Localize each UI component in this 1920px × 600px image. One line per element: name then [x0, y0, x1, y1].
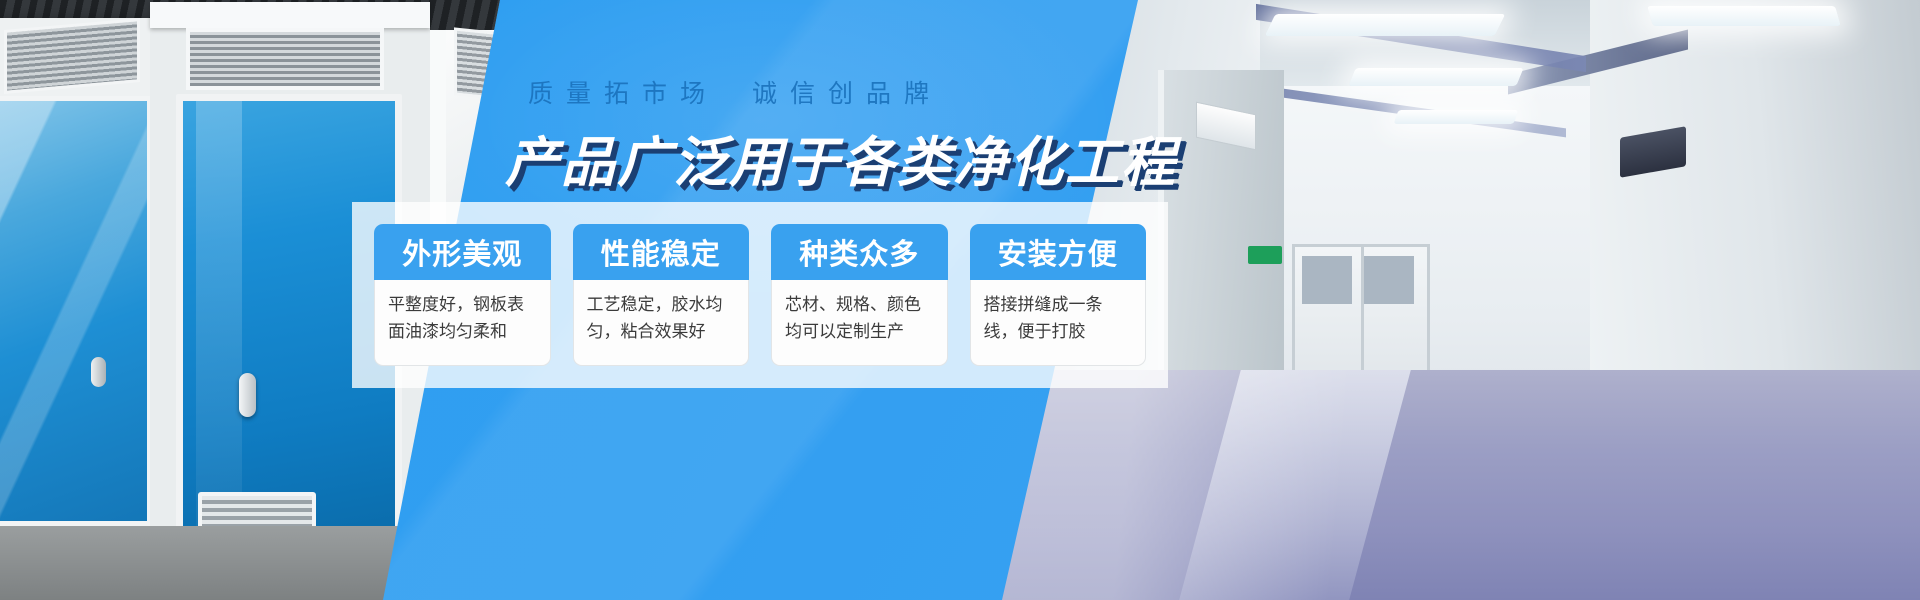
feature-card-title: 安装方便 — [998, 231, 1118, 273]
feature-card-text: 平整度好，钢板表面油漆均匀柔和 — [388, 291, 537, 345]
louver-vent-icon — [186, 28, 384, 90]
tagline-left-text: 质量拓市场 — [528, 80, 718, 108]
door-window — [1364, 256, 1414, 304]
feature-card-title: 外形美观 — [402, 231, 522, 273]
door-handle-icon — [239, 373, 256, 417]
feature-card-text: 搭接拼缝成一条线，便于打胶 — [984, 291, 1133, 345]
feature-card-list: 外形美观 平整度好，钢板表面油漆均匀柔和 性能稳定 工艺稳定，胶水均匀，粘合效果… — [352, 202, 1168, 388]
feature-card-title: 种类众多 — [799, 231, 919, 273]
feature-card-panel: 外形美观 平整度好，钢板表面油漆均匀柔和 性能稳定 工艺稳定，胶水均匀，粘合效果… — [352, 202, 1168, 388]
floor-light-reflection — [1179, 370, 1411, 600]
exit-sign-icon — [1248, 246, 1282, 264]
feature-card[interactable]: 种类众多 芯材、规格、颜色均可以定制生产 — [771, 224, 948, 366]
door-lock-icon — [91, 357, 106, 387]
feature-card-body: 芯材、规格、颜色均可以定制生产 — [771, 280, 948, 366]
feature-card-text: 工艺稳定，胶水均匀，粘合效果好 — [587, 291, 736, 345]
feature-card-body: 平整度好，钢板表面油漆均匀柔和 — [374, 280, 551, 366]
promo-banner: 质量拓市场诚信创品牌 产品广泛用于各类净化工程 外形美观 平整度好，钢板表面油漆… — [0, 0, 1920, 600]
feature-card[interactable]: 外形美观 平整度好，钢板表面油漆均匀柔和 — [374, 224, 551, 366]
ceiling-light-icon — [1647, 6, 1841, 26]
feature-card-text: 芯材、规格、颜色均可以定制生产 — [785, 291, 934, 345]
cabin-blue-panel — [0, 96, 152, 526]
feature-card[interactable]: 安装方便 搭接拼缝成一条线，便于打胶 — [970, 224, 1147, 366]
ceiling-light-icon — [1348, 68, 1523, 86]
feature-card-header: 性能稳定 — [573, 224, 750, 280]
feature-card-body: 搭接拼缝成一条线，便于打胶 — [970, 280, 1147, 366]
door-window — [1302, 256, 1352, 304]
cabin-unit-left — [0, 18, 150, 600]
feature-card-header: 安装方便 — [970, 224, 1147, 280]
feature-card-header: 种类众多 — [771, 224, 948, 280]
louver-vent-icon — [4, 18, 140, 94]
ceiling-light-icon — [1394, 110, 1519, 124]
feature-card-body: 工艺稳定，胶水均匀，粘合效果好 — [573, 280, 750, 366]
banner-tagline: 质量拓市场诚信创品牌 — [528, 74, 942, 110]
tagline-right-text: 诚信创品牌 — [752, 80, 942, 108]
cabin-top-trim — [150, 2, 430, 28]
feature-card-header: 外形美观 — [374, 224, 551, 280]
feature-card[interactable]: 性能稳定 工艺稳定，胶水均匀，粘合效果好 — [573, 224, 750, 366]
corridor-floor — [960, 370, 1920, 600]
banner-headline: 产品广泛用于各类净化工程 — [505, 118, 1177, 197]
ceiling-light-icon — [1265, 14, 1506, 36]
feature-card-title: 性能稳定 — [601, 231, 721, 273]
